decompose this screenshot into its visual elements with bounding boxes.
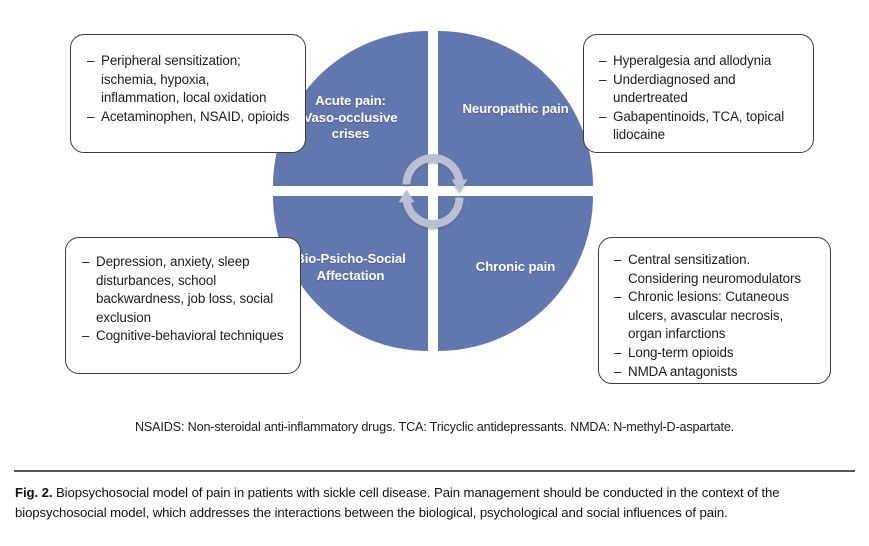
list-item: Peripheral sensitization; ischemia, hypo… xyxy=(87,52,291,108)
caption-divider-rule xyxy=(14,470,855,472)
list-item: Central sensitization. Considering neuro… xyxy=(614,251,820,288)
callout-list: Depression, anxiety, sleep disturbances,… xyxy=(82,253,288,346)
list-item: Chronic lesions: Cutaneous ulcers, avasc… xyxy=(614,288,820,344)
callout-list: Central sensitization. Considering neuro… xyxy=(614,251,820,381)
list-item: Depression, anxiety, sleep disturbances,… xyxy=(82,253,288,327)
callout-acute-pain: Peripheral sensitization; ischemia, hypo… xyxy=(70,34,306,153)
figure-area: Peripheral sensitization; ischemia, hypo… xyxy=(0,0,869,465)
callout-list: Hyperalgesia and allodynia Underdiagnose… xyxy=(599,52,801,145)
callout-biopsychosocial: Depression, anxiety, sleep disturbances,… xyxy=(65,237,301,374)
quadrant-neuropathic-pain: Neuropathic pain xyxy=(438,31,593,186)
list-item: Gabapentinoids, TCA, topical lidocaine xyxy=(599,108,801,145)
figure-caption: Fig. 2. Biopsychosocial model of pain in… xyxy=(15,483,855,522)
list-item: NMDA antagonists xyxy=(614,363,820,382)
quadrant-circle: Acute pain:Vaso-occlusivecrises Neuropat… xyxy=(273,31,593,351)
list-item: Cognitive-behavioral techniques xyxy=(82,327,288,346)
figure-caption-label: Fig. 2. xyxy=(15,485,52,500)
figure-footnote: NSAIDS: Non-steroidal anti-inflammatory … xyxy=(0,420,869,434)
list-item: Long-term opioids xyxy=(614,344,820,363)
list-item: Acetaminophen, NSAID, opioids xyxy=(87,108,291,127)
list-item: Hyperalgesia and allodynia xyxy=(599,52,801,71)
figure-caption-text: Biopsychosocial model of pain in patient… xyxy=(15,485,779,520)
list-item: Underdiagnosed and undertreated xyxy=(599,71,801,108)
callout-list: Peripheral sensitization; ischemia, hypo… xyxy=(87,52,291,126)
callout-neuropathic-pain: Hyperalgesia and allodynia Underdiagnose… xyxy=(583,34,814,153)
quadrant-chronic-pain: Chronic pain xyxy=(438,196,593,351)
quadrant-label-chronic-pain: Chronic pain xyxy=(438,259,593,276)
quadrant-label-neuropathic-pain: Neuropathic pain xyxy=(438,101,593,118)
callout-chronic-pain: Central sensitization. Considering neuro… xyxy=(598,237,831,384)
